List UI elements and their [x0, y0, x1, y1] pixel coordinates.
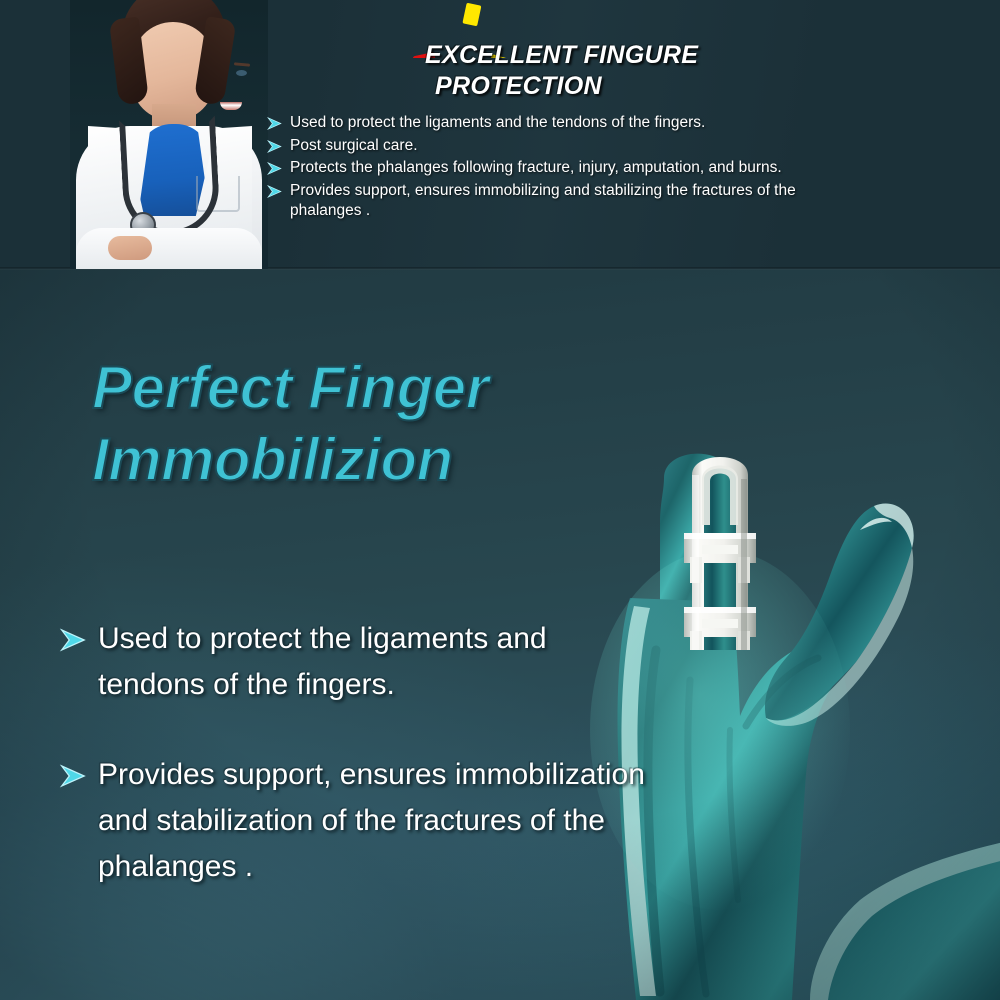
doctor-hand	[108, 236, 152, 260]
doctor-folded-arms	[76, 228, 262, 269]
list-item: Provides support, ensures immobilization…	[58, 752, 658, 890]
chevron-arrow-icon	[58, 625, 88, 655]
page-title: Perfect Finger Immobilizion	[92, 352, 712, 496]
list-item-label: Used to protect the ligaments and tendon…	[88, 616, 658, 708]
chevron-arrow-icon	[266, 183, 283, 200]
chevron-arrow-icon	[266, 115, 283, 132]
headline-line-2: Immobilizion	[92, 424, 712, 496]
list-item-label: Protects the phalanges following fractur…	[283, 158, 782, 179]
product-infographic-page: Perfect Finger Immobilizion Used to prot…	[0, 0, 1000, 1000]
headline-line-1: Perfect Finger	[92, 352, 712, 424]
list-item: Used to protect the ligaments and the te…	[266, 113, 826, 134]
list-item: Provides support, ensures immobilizing a…	[266, 181, 826, 222]
main-feature-list: Used to protect the ligaments and tendon…	[58, 616, 658, 934]
header-title-line-1: EXCELLENT FINGURE	[425, 41, 698, 69]
list-item-label: Provides support, ensures immobilization…	[88, 752, 658, 890]
chevron-arrow-icon	[266, 138, 283, 155]
doctor-mouth	[220, 102, 242, 110]
chevron-arrow-icon	[266, 160, 283, 177]
header-feature-list: Used to protect the ligaments and the te…	[266, 113, 826, 224]
doctor-photo	[70, 0, 268, 269]
list-item: Used to protect the ligaments and tendon…	[58, 616, 658, 708]
list-item-label: Post surgical care.	[283, 136, 418, 157]
list-item-label: Used to protect the ligaments and the te…	[283, 113, 705, 134]
header-title: EXCELLENT FINGURE PROTECTION	[425, 40, 845, 102]
list-item: Post surgical care.	[266, 136, 826, 157]
chevron-arrow-icon	[58, 761, 88, 791]
list-item: Protects the phalanges following fractur…	[266, 158, 826, 179]
header-title-line-2: PROTECTION	[435, 71, 845, 102]
doctor-eye-right	[236, 70, 247, 76]
list-item-label: Provides support, ensures immobilizing a…	[283, 181, 826, 222]
doctor-eyebrow-right	[234, 62, 250, 66]
